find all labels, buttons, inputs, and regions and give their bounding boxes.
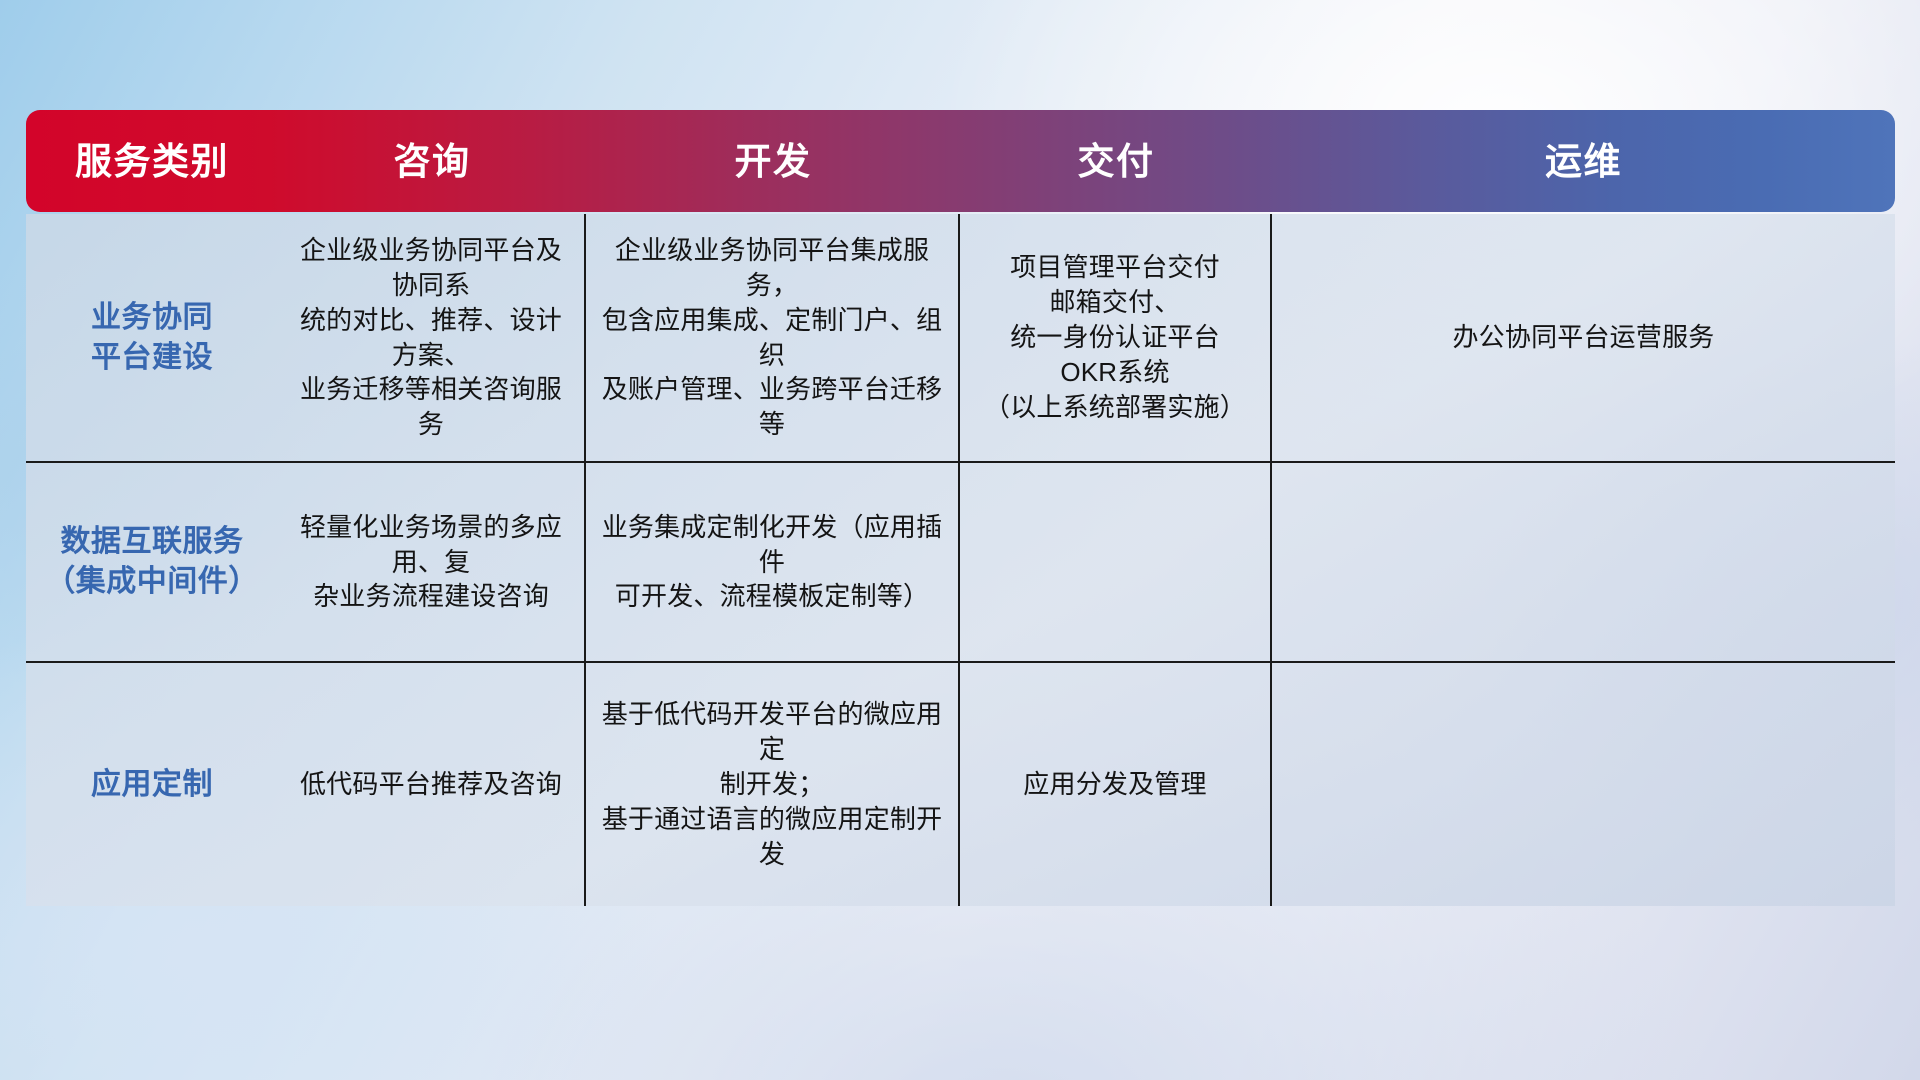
cell-text: 轻量化业务场景的多应用、复 杂业务流程建设咨询	[292, 510, 570, 614]
cell-text: 应用分发及管理	[1023, 767, 1206, 802]
row-label-text: 应用定制	[91, 765, 213, 805]
cell-delivery: 项目管理平台交付 邮箱交付、 统一身份认证平台 OKR系统 （以上系统部署实施）	[960, 214, 1272, 461]
cell-text: 基于低代码开发平台的微应用定 制开发； 基于通过语言的微应用定制开发	[600, 697, 944, 871]
cell-text: 办公协同平台运营服务	[1452, 320, 1714, 355]
service-matrix-table: 服务类别 咨询 开发 交付 运维 业务协同 平台建设 企业级业务协同平台及协同系…	[26, 110, 1895, 955]
cell-consulting: 低代码平台推荐及咨询	[278, 663, 586, 906]
table-body: 业务协同 平台建设 企业级业务协同平台及协同系 统的对比、推荐、设计方案、 业务…	[26, 214, 1895, 906]
cell-consulting: 轻量化业务场景的多应用、复 杂业务流程建设咨询	[278, 463, 586, 661]
cell-operations	[1272, 463, 1895, 661]
table-row: 数据互联服务 （集成中间件） 轻量化业务场景的多应用、复 杂业务流程建设咨询 业…	[26, 463, 1895, 663]
cell-operations	[1272, 663, 1895, 906]
row-label-text: 业务协同 平台建设	[91, 298, 213, 377]
cell-operations: 办公协同平台运营服务	[1272, 214, 1895, 461]
header-cell-delivery: 交付	[960, 143, 1272, 180]
row-label-cell: 应用定制	[26, 663, 278, 906]
header-cell-development: 开发	[586, 143, 960, 180]
table-row: 应用定制 低代码平台推荐及咨询 基于低代码开发平台的微应用定 制开发； 基于通过…	[26, 663, 1895, 906]
cell-delivery: 应用分发及管理	[960, 663, 1272, 906]
row-label-cell: 业务协同 平台建设	[26, 214, 278, 461]
header-cell-category: 服务类别	[26, 143, 278, 180]
cell-consulting: 企业级业务协同平台及协同系 统的对比、推荐、设计方案、 业务迁移等相关咨询服务	[278, 214, 586, 461]
cell-delivery	[960, 463, 1272, 661]
table-header-row: 服务类别 咨询 开发 交付 运维	[26, 110, 1895, 212]
cell-text: 业务集成定制化开发（应用插件 可开发、流程模板定制等）	[600, 510, 944, 614]
cell-development: 基于低代码开发平台的微应用定 制开发； 基于通过语言的微应用定制开发	[586, 663, 960, 906]
cell-text: 企业级业务协同平台集成服务， 包含应用集成、定制门户、组织 及账户管理、业务跨平…	[600, 233, 944, 442]
cell-text: 项目管理平台交付 邮箱交付、 统一身份认证平台 OKR系统 （以上系统部署实施）	[984, 250, 1246, 424]
cell-text: 低代码平台推荐及咨询	[300, 767, 562, 802]
header-cell-consulting: 咨询	[278, 143, 586, 180]
cell-development: 业务集成定制化开发（应用插件 可开发、流程模板定制等）	[586, 463, 960, 661]
header-cell-operations: 运维	[1272, 143, 1895, 180]
row-label-text: 数据互联服务 （集成中间件）	[45, 522, 259, 601]
table-row: 业务协同 平台建设 企业级业务协同平台及协同系 统的对比、推荐、设计方案、 业务…	[26, 214, 1895, 463]
cell-development: 企业级业务协同平台集成服务， 包含应用集成、定制门户、组织 及账户管理、业务跨平…	[586, 214, 960, 461]
cell-text: 企业级业务协同平台及协同系 统的对比、推荐、设计方案、 业务迁移等相关咨询服务	[292, 233, 570, 442]
row-label-cell: 数据互联服务 （集成中间件）	[26, 463, 278, 661]
